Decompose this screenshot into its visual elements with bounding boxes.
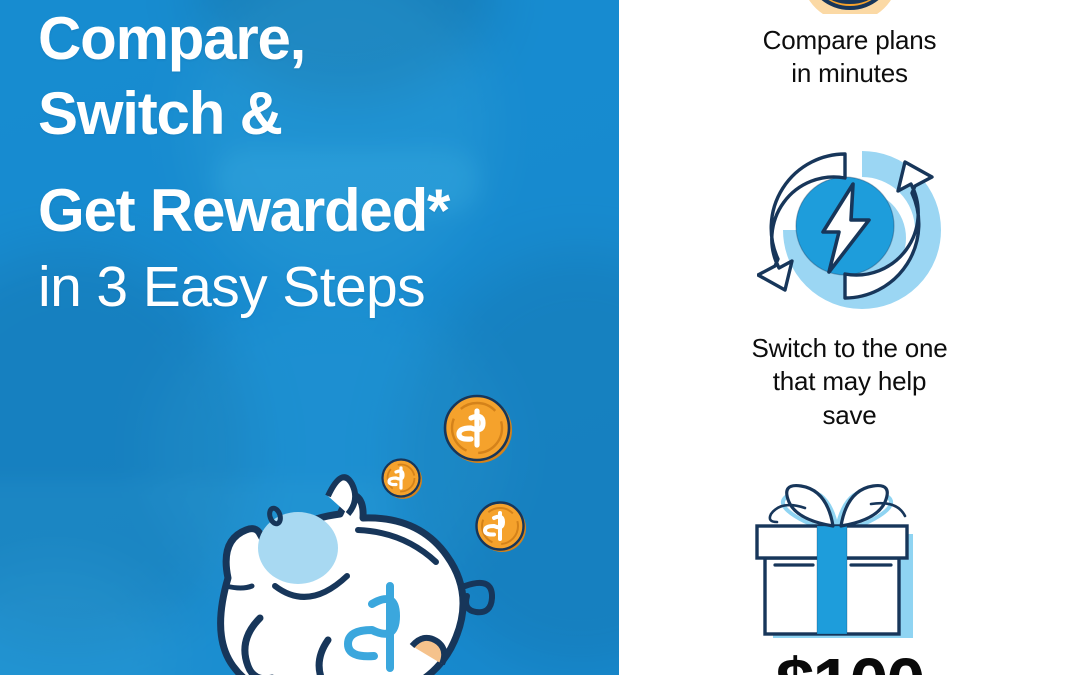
headline-line-1: Compare, xyxy=(38,8,608,69)
infographic-canvas: Compare, Switch & Get Rewarded* in 3 Eas… xyxy=(0,0,1080,675)
coin-large xyxy=(445,396,512,463)
steps-panel: Compare plans in minutes xyxy=(619,0,1080,675)
hero-panel: Compare, Switch & Get Rewarded* in 3 Eas… xyxy=(0,0,619,675)
step-2-caption: Switch to the one that may help save xyxy=(619,332,1080,432)
step-1-caption-line-1: Compare plans xyxy=(619,24,1080,57)
step-2-caption-line-2: that may help xyxy=(619,365,1080,398)
gift-box-icon xyxy=(745,472,930,644)
page-title: Compare, Switch & Get Rewarded* in 3 Eas… xyxy=(38,6,608,316)
step-1-caption-line-2: in minutes xyxy=(619,57,1080,90)
coin-stack-icon xyxy=(795,0,905,14)
headline-line-3: Get Rewarded* xyxy=(38,180,608,241)
step-2-caption-line-1: Switch to the one xyxy=(619,332,1080,365)
headline-subhead: in 3 Easy Steps xyxy=(38,258,608,316)
coin-small xyxy=(383,460,423,500)
reward-amount: $100 xyxy=(619,648,1080,675)
refresh-lightning-icon xyxy=(757,140,942,320)
coin-medium xyxy=(477,503,527,553)
step-2-caption-line-3: save xyxy=(619,399,1080,432)
step-1-caption: Compare plans in minutes xyxy=(619,24,1080,91)
piggy-bank-icon xyxy=(221,477,492,675)
piggy-bank-illustration xyxy=(180,378,619,675)
headline-line-2: Switch & xyxy=(38,83,608,144)
